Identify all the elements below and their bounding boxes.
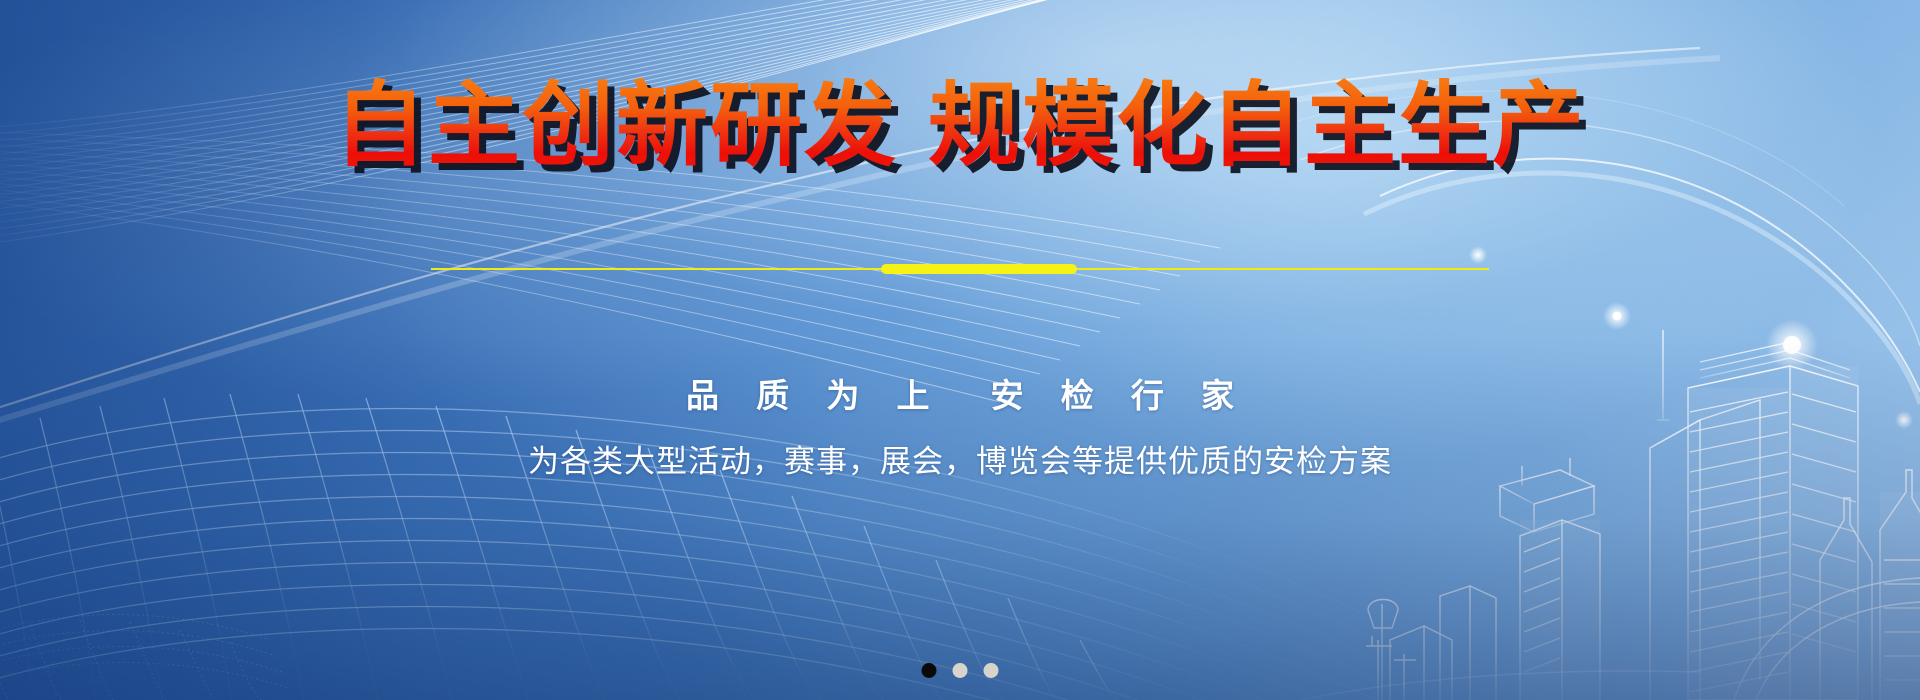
divider (431, 262, 1489, 276)
subtitle-slogan: 品 质 为 上 安 检 行 家 (0, 372, 1920, 420)
carousel-next-button[interactable] (1850, 0, 1920, 700)
carousel-dot-2[interactable] (953, 663, 968, 678)
headline-part-1: 自主创新研发 (334, 72, 898, 179)
divider-thick-segment (881, 264, 1077, 274)
headline-container: 自主创新研发规模化自主生产 (0, 78, 1920, 174)
hero-banner: 自主创新研发规模化自主生产 品 质 为 上 安 检 行 家 为各类大型活动，赛事… (0, 0, 1920, 700)
subtitle-container: 品 质 为 上 安 检 行 家 为各类大型活动，赛事，展会，博览会等提供优质的安… (0, 372, 1920, 485)
headline-part-2: 规模化自主生产 (928, 72, 1586, 179)
carousel-dot-3[interactable] (984, 663, 999, 678)
subtitle-description: 为各类大型活动，赛事，展会，博览会等提供优质的安检方案 (0, 440, 1920, 485)
page-title: 自主创新研发规模化自主生产 (334, 78, 1586, 174)
carousel-dots (922, 663, 999, 678)
carousel-prev-button[interactable] (0, 0, 70, 700)
carousel-dot-1[interactable] (922, 663, 937, 678)
